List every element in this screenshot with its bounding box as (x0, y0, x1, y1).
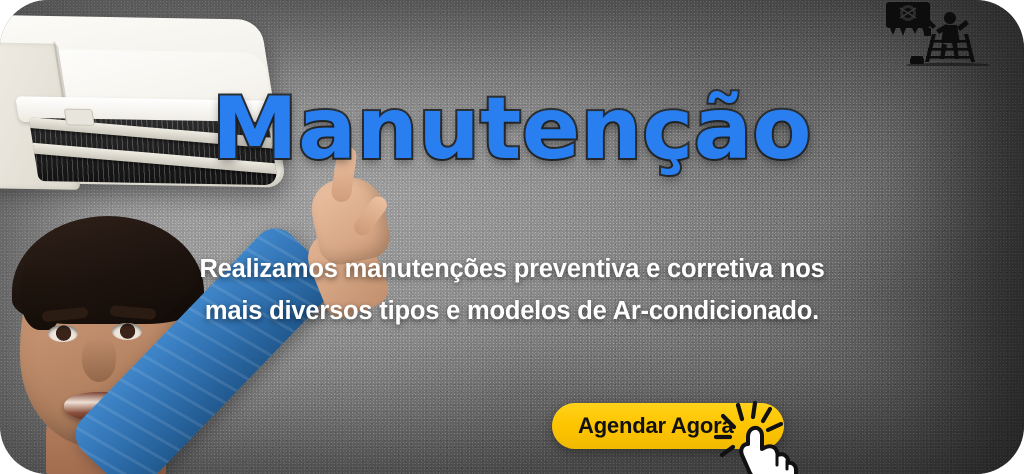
person-nose (82, 338, 116, 382)
cta-container: Agendar Agora (552, 403, 784, 449)
promo-banner: Manutenção Realizamos manutenções preven… (0, 0, 1024, 474)
cta-label: Agendar Agora (578, 413, 734, 439)
subtitle-line-1: Realizamos manutenções preventiva e corr… (0, 248, 1024, 290)
page-title: Manutenção (0, 86, 1024, 172)
subtitle-line-2: mais diversos tipos e modelos de Ar-cond… (0, 290, 1024, 332)
subtitle: Realizamos manutenções preventiva e corr… (0, 248, 1024, 332)
schedule-now-button[interactable]: Agendar Agora (552, 403, 784, 449)
technician-on-ladder-silhouette-icon (880, 0, 996, 66)
